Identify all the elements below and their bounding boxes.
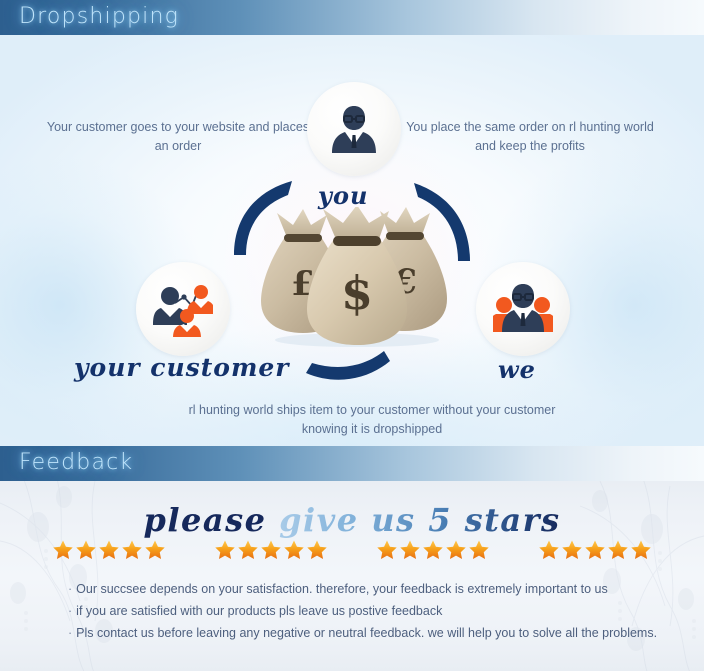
star-icon — [52, 539, 74, 561]
feedback-banner: Feedback — [0, 446, 704, 481]
star-rating-group — [538, 539, 652, 561]
star-icon — [283, 539, 305, 561]
star-icon — [630, 539, 652, 561]
star-icon — [306, 539, 328, 561]
star-icon — [399, 539, 421, 561]
bullet-marker-icon: · — [68, 626, 72, 640]
feedback-bullet-item: ·Our succsee depends on your satisfactio… — [68, 578, 688, 600]
star-icon — [445, 539, 467, 561]
role-label-we: we — [498, 355, 536, 384]
feedback-section: please give us 5 stars ·Our succsee depe… — [0, 481, 704, 671]
feedback-headline: please give us 5 stars — [0, 501, 704, 539]
star-icon — [607, 539, 629, 561]
star-icon — [584, 539, 606, 561]
network-people-icon — [153, 281, 213, 337]
bullet-marker-icon: · — [68, 604, 72, 618]
headline-please: please — [144, 501, 280, 539]
star-icon — [468, 539, 490, 561]
avatar-your-customer — [136, 262, 230, 356]
bullet-marker-icon: · — [68, 582, 72, 596]
team-people-icon — [493, 282, 553, 336]
star-icon — [121, 539, 143, 561]
feedback-bullet-list: ·Our succsee depends on your satisfactio… — [68, 578, 688, 644]
feedback-bullet-text: Our succsee depends on your satisfaction… — [76, 582, 608, 596]
star-rating-group — [214, 539, 328, 561]
dropshipping-banner: Dropshipping — [0, 0, 704, 35]
star-icon — [214, 539, 236, 561]
page-root: Dropshipping Your customer goes to your … — [0, 0, 704, 671]
avatar-we — [476, 262, 570, 356]
dropshipping-section: Your customer goes to your website and p… — [0, 35, 704, 446]
feedback-bullet-item: ·if you are satisfied with our products … — [68, 600, 688, 622]
star-icon — [144, 539, 166, 561]
role-label-your-customer: your customer — [74, 353, 289, 382]
caption-customer-places-order: Your customer goes to your website and p… — [42, 118, 314, 156]
star-rating-group — [376, 539, 490, 561]
caption-ships-item: rl hunting world ships item to your cust… — [182, 401, 562, 439]
star-icon — [237, 539, 259, 561]
feedback-bullet-text: Pls contact us before leaving any negati… — [76, 626, 657, 640]
star-icon — [98, 539, 120, 561]
money-bags-illustration: £ € $ — [259, 207, 455, 347]
role-label-you: you — [318, 181, 368, 210]
star-icon — [561, 539, 583, 561]
headline-give-us-5-stars: give us 5 stars — [279, 501, 560, 539]
star-rating-group — [52, 539, 166, 561]
star-icon — [422, 539, 444, 561]
star-icon — [75, 539, 97, 561]
star-icon — [260, 539, 282, 561]
dropshipping-banner-title: Dropshipping — [19, 4, 179, 29]
feedback-bullet-text: if you are satisfied with our products p… — [76, 604, 442, 618]
feedback-banner-title: Feedback — [19, 450, 133, 475]
svg-text:$: $ — [341, 266, 373, 320]
star-icon — [376, 539, 398, 561]
star-icon — [538, 539, 560, 561]
avatar-you — [307, 82, 401, 176]
star-rating-groups — [0, 539, 704, 561]
caption-you-place-order: You place the same order on rl hunting w… — [396, 118, 664, 156]
feedback-bullet-item: ·Pls contact us before leaving any negat… — [68, 622, 688, 644]
businessman-glasses-icon — [326, 101, 382, 157]
